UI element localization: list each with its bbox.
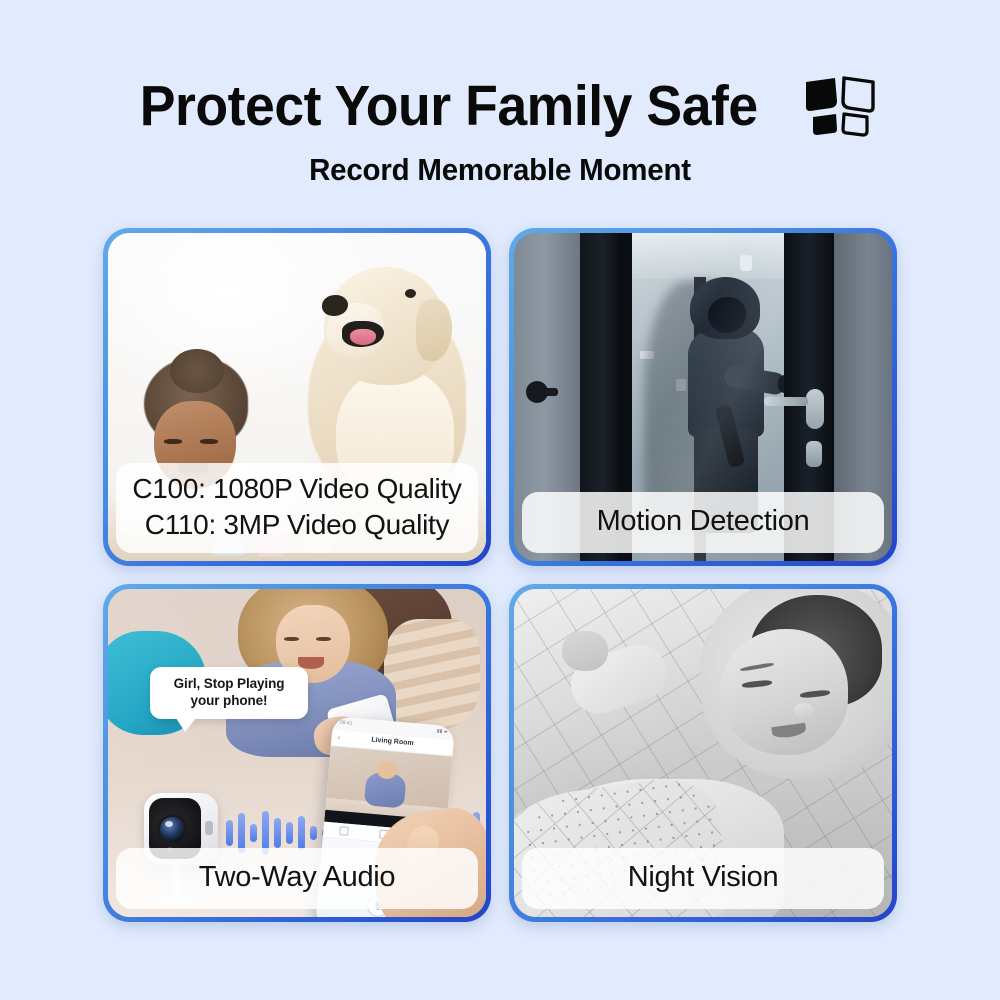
lock-escutcheon (806, 389, 824, 429)
waveform-bar (274, 818, 281, 848)
card-caption-night-vision: Night Vision (522, 848, 884, 909)
feature-card-grid: C100: 1080P Video Quality C110: 3MP Vide… (103, 228, 897, 922)
waveform-bar (310, 826, 317, 840)
speech-bubble-line: Girl, Stop Playing (158, 676, 300, 693)
feature-card-night-vision[interactable]: Night Vision (509, 584, 897, 922)
child-eye-left (164, 439, 182, 444)
feature-card-two-way-audio[interactable]: 09:41 ▮▮ ▰ ‹ Living Room (103, 584, 491, 922)
phone-status-icons: ▮▮ ▰ (437, 728, 448, 735)
waveform-bar (298, 816, 305, 850)
girl-eye-right (316, 637, 331, 641)
page-header: Protect Your Family Safe Record Memorabl… (0, 0, 1000, 188)
feature-card-video-quality[interactable]: C100: 1080P Video Quality C110: 3MP Vide… (103, 228, 491, 566)
caption-line: C110: 3MP Video Quality (122, 507, 472, 543)
door-knob-stem (544, 388, 558, 396)
dog-tongue (350, 329, 376, 345)
child-eye-right (200, 439, 218, 444)
camera-side-port (205, 821, 213, 835)
caption-line: C100: 1080P Video Quality (122, 471, 472, 507)
tab-icon[interactable] (339, 826, 349, 836)
tp-link-brand-logo (804, 76, 880, 138)
baby-nose (794, 703, 814, 719)
child-hair-bun (170, 349, 224, 393)
baby-hand (562, 631, 608, 671)
camera-lens (160, 817, 185, 842)
card-inner: Motion Detection (514, 233, 892, 561)
waveform-bar (226, 820, 233, 846)
speech-bubble: Girl, Stop Playing your phone! (150, 667, 308, 719)
speech-bubble-line: your phone! (158, 693, 300, 710)
card-caption-video-quality: C100: 1080P Video Quality C110: 3MP Vide… (116, 463, 478, 553)
card-inner: Night Vision (514, 589, 892, 917)
feature-card-motion-detection[interactable]: Motion Detection (509, 228, 897, 566)
girl-eye-left (284, 637, 299, 641)
caption-line: Two-Way Audio (122, 859, 472, 896)
card-inner: C100: 1080P Video Quality C110: 3MP Vide… (108, 233, 486, 561)
pillow-striped (384, 619, 480, 729)
card-caption-two-way-audio: Two-Way Audio (116, 848, 478, 909)
door-lock (806, 441, 822, 467)
page-subtitle: Record Memorable Moment (25, 152, 975, 188)
waveform-bar (286, 822, 293, 844)
caption-line: Night Vision (528, 859, 878, 896)
card-caption-motion-detection: Motion Detection (522, 492, 884, 553)
waveform-bar (250, 824, 257, 842)
card-inner: 09:41 ▮▮ ▰ ‹ Living Room (108, 589, 486, 917)
title-row: Protect Your Family Safe (0, 76, 1000, 138)
phone-status-time: 09:41 (340, 720, 353, 727)
dog-eye (405, 289, 416, 298)
caption-line: Motion Detection (528, 503, 878, 540)
page-title: Protect Your Family Safe (140, 77, 758, 137)
